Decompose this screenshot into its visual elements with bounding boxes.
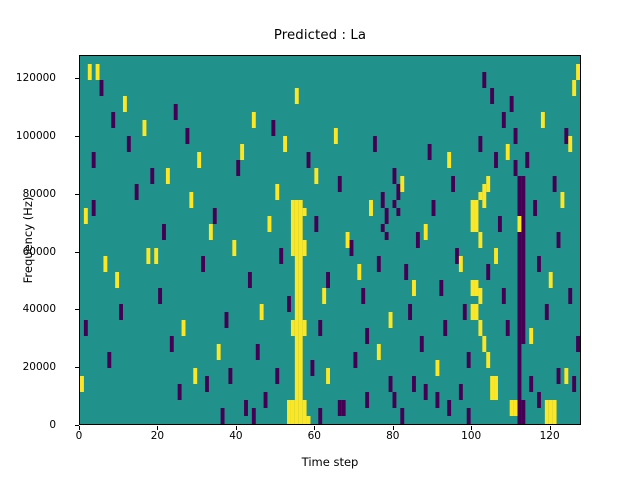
- y-tick-mark: [75, 78, 79, 79]
- heatmap-canvas: [80, 56, 580, 424]
- x-tick-label: 40: [196, 430, 276, 442]
- x-tick-label: 0: [39, 430, 119, 442]
- y-tick-mark: [75, 367, 79, 368]
- chart-title: Predicted : La: [0, 28, 640, 43]
- x-tick-label: 20: [117, 430, 197, 442]
- y-tick-mark: [75, 194, 79, 195]
- y-tick-label: 20000: [0, 362, 56, 372]
- x-tick-label: 100: [431, 430, 511, 442]
- y-tick-label: 120000: [0, 73, 56, 83]
- x-tick-label: 60: [274, 430, 354, 442]
- y-tick-mark: [75, 309, 79, 310]
- y-tick-label: 80000: [0, 189, 56, 199]
- y-tick-mark: [75, 252, 79, 253]
- y-tick-mark: [75, 136, 79, 137]
- y-tick-label: 60000: [0, 247, 56, 257]
- y-tick-label: 40000: [0, 304, 56, 314]
- heatmap-axes: [79, 55, 581, 425]
- x-tick-label: 120: [510, 430, 590, 442]
- y-tick-label: 100000: [0, 131, 56, 141]
- y-tick-label: 0: [0, 420, 56, 430]
- x-tick-label: 80: [353, 430, 433, 442]
- matplotlib-figure: Predicted : La Frequency (Hz) Time step …: [0, 0, 640, 480]
- x-axis-label: Time step: [79, 455, 581, 469]
